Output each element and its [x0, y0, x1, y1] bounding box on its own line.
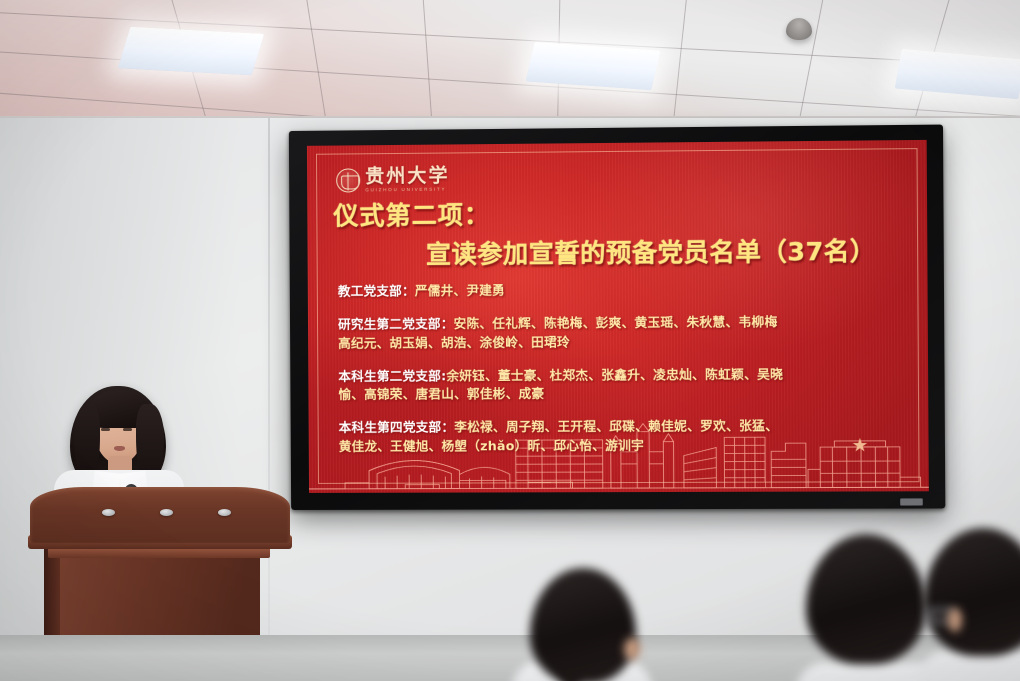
- smoke-detector-icon: [786, 18, 812, 40]
- ceiling-light-1: [118, 27, 264, 75]
- slide-title-line-2: 宣读参加宣誓的预备党员名单（37名）: [426, 231, 909, 271]
- branch-label: 本科生第四党支部：: [339, 420, 455, 435]
- university-seal-icon: [336, 168, 360, 192]
- university-name-cn: 贵州大学: [365, 167, 449, 187]
- podium-fitting: [218, 509, 231, 516]
- screen-bezel: 贵州大学 GUIZHOU UNIVERSITY 仪式第二项： 宣读参加宣誓的预备…: [289, 125, 946, 510]
- branch-row: 教工党支部：严儒井、尹建勇: [338, 279, 909, 301]
- slide-content: 贵州大学 GUIZHOU UNIVERSITY 仪式第二项： 宣读参加宣誓的预备…: [329, 154, 910, 483]
- university-name-en: GUIZHOU UNIVERSITY: [365, 188, 449, 193]
- presentation-screen[interactable]: 贵州大学 GUIZHOU UNIVERSITY 仪式第二项： 宣读参加宣誓的预备…: [290, 131, 936, 510]
- speaker-eye-left: [101, 428, 110, 431]
- speaker-mouth: [114, 446, 125, 451]
- slide-title-line-1: 仪式第二项：: [333, 192, 908, 233]
- branch-row-cont: 黄佳龙、王健旭、杨塱（zhǎo）昕、邱心怡、游训宇: [339, 435, 910, 455]
- branch-names: 李松禄、周子翔、王开程、邱碟、赖佳妮、罗欢、张猛、: [454, 418, 778, 434]
- speaker-eye-right: [123, 428, 132, 431]
- audience-ear-left: [624, 638, 640, 660]
- branch-label: 教工党支部：: [338, 283, 415, 299]
- branch-label: 本科生第二党支部:: [338, 368, 446, 384]
- branch-block: 教工党支部：严儒井、尹建勇: [338, 279, 909, 301]
- branch-block: 本科生第二党支部:余妍钰、董士豪、杜郑杰、张鑫升、凌忠灿、陈虹颖、吴晓 愉、高锦…: [338, 365, 910, 404]
- ceiling: [0, 0, 1020, 124]
- podium-desktop: [30, 487, 290, 543]
- branch-names: 余妍钰、董士豪、杜郑杰、张鑫升、凌忠灿、陈虹颖、吴晓: [446, 366, 783, 383]
- branch-names: 严儒井、尹建勇: [415, 283, 505, 299]
- branch-row-cont: 愉、高锦荣、唐君山、郭佳彬、成豪: [338, 383, 909, 404]
- branch-block: 本科生第四党支部：李松禄、周子翔、王开程、邱碟、赖佳妮、罗欢、张猛、 黄佳龙、王…: [339, 417, 911, 456]
- screen-brand-label: [900, 498, 923, 505]
- branch-row-cont: 高纪元、胡玉娟、胡浩、涂俊岭、田珺玲: [338, 331, 909, 353]
- podium-fitting: [102, 509, 115, 516]
- branch-row: 本科生第四党支部：李松禄、周子翔、王开程、邱碟、赖佳妮、罗欢、张猛、: [339, 417, 910, 438]
- university-logo: 贵州大学 GUIZHOU UNIVERSITY: [336, 160, 908, 195]
- audience-ear-right: [948, 608, 962, 632]
- photo-scene: 贵州大学 GUIZHOU UNIVERSITY 仪式第二项： 宣读参加宣誓的预备…: [0, 0, 1020, 681]
- branch-names: 安陈、任礼辉、陈艳梅、彭爽、黄玉瑶、朱秋慧、韦柳梅: [454, 314, 778, 331]
- podium-fitting: [160, 509, 173, 516]
- branch-label: 研究生第二党支部：: [338, 316, 454, 332]
- screen-panel: 贵州大学 GUIZHOU UNIVERSITY 仪式第二项： 宣读参加宣誓的预备…: [307, 140, 929, 493]
- university-logo-text: 贵州大学 GUIZHOU UNIVERSITY: [365, 167, 450, 193]
- branch-block: 研究生第二党支部：安陈、任礼辉、陈艳梅、彭爽、黄玉瑶、朱秋慧、韦柳梅 高纪元、胡…: [338, 312, 910, 352]
